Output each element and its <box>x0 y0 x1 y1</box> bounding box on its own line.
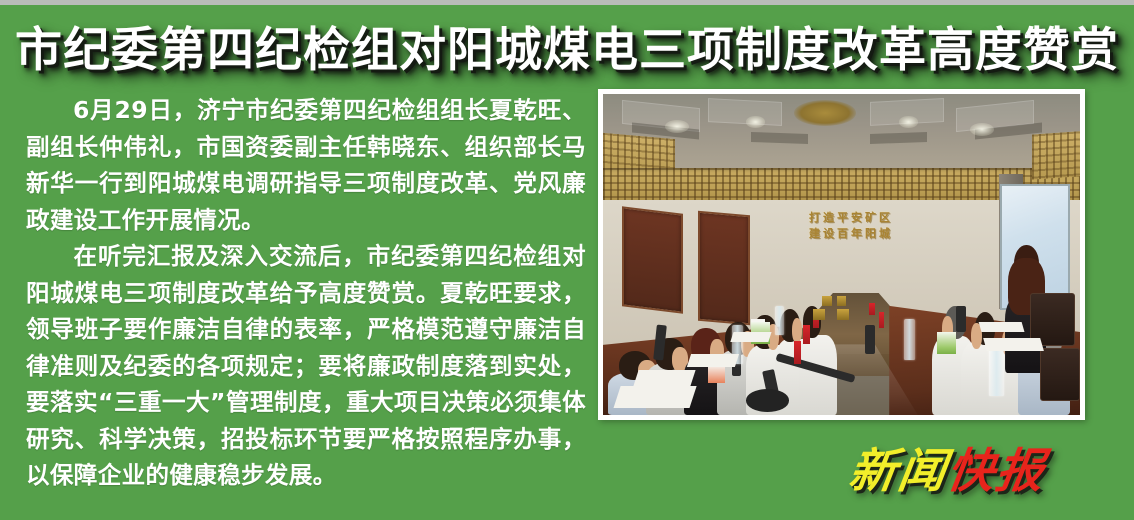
paragraph-1: 6月29日，济宁市纪委第四纪检组组长夏乾旺、副组长仲伟礼，市国资委副主任韩晓东、… <box>26 92 586 238</box>
ceiling-light <box>746 116 765 127</box>
ceiling-light <box>970 123 994 136</box>
logo-text-part-a: 新闻 <box>845 444 951 499</box>
door-center <box>698 211 750 325</box>
wall-slogan-line-2: 建设百年阳城 <box>779 226 922 242</box>
photo-frame: 打造平安矿区 建设百年阳城 <box>598 89 1085 420</box>
tissue-box <box>937 332 956 354</box>
ceiling-rose-ornament <box>794 100 856 126</box>
water-bottle <box>904 319 915 361</box>
paragraph-2: 在听完汇报及深入交流后，市纪委第四纪检组对阳城煤电三项制度改革给予高度赞赏。夏乾… <box>26 238 586 494</box>
ceiling-slot <box>751 132 808 144</box>
table-ornament <box>837 309 849 320</box>
news-flash-logo: 新闻快报 <box>845 432 1051 501</box>
table-flag <box>869 303 875 316</box>
paragraph-2-text: 在听完汇报及深入交流后，市纪委第四纪检组对阳城煤电三项制度改革给予高度赞赏。夏乾… <box>26 242 586 489</box>
wall-slogan-line-1: 打造平安矿区 <box>779 210 922 226</box>
ceiling-panel <box>708 98 782 126</box>
paragraph-1-text: 6月29日，济宁市纪委第四纪检组组长夏乾旺、副组长仲伟礼，市国资委副主任韩晓东、… <box>26 96 586 234</box>
door-left <box>622 206 683 314</box>
ceiling-light <box>665 120 689 133</box>
page-title: 市纪委第四纪检组对阳城煤电三项制度改革高度赞赏 <box>15 11 1119 80</box>
microphone <box>956 306 966 332</box>
wall-slogan: 打造平安矿区 建设百年阳城 <box>779 210 922 242</box>
water-bottle <box>989 344 1003 395</box>
ceiling-light <box>899 116 918 127</box>
table-flag <box>794 341 802 363</box>
table-ornament <box>813 309 825 320</box>
document-paper <box>634 370 696 386</box>
table-ornament <box>822 296 832 306</box>
ceiling-slot <box>870 132 927 144</box>
logo-text-part-b: 快报 <box>943 444 1049 499</box>
document-paper <box>687 354 739 367</box>
article-body: 6月29日，济宁市纪委第四纪检组组长夏乾旺、副组长仲伟礼，市国资委副主任韩晓东、… <box>26 92 586 494</box>
document-paper <box>730 332 771 342</box>
document-paper <box>983 338 1044 351</box>
poster-title-bar: 市纪委第四纪检组对阳城煤电三项制度改革高度赞赏 <box>0 5 1134 85</box>
document-paper <box>978 322 1024 332</box>
news-poster: 市纪委第四纪检组对阳城煤电三项制度改革高度赞赏 6月29日，济宁市纪委第四纪检组… <box>0 0 1134 520</box>
table-flag <box>803 325 810 344</box>
table-ornament <box>837 296 847 306</box>
chair-right-2 <box>1040 348 1080 401</box>
lattice-frieze-right <box>1032 131 1080 179</box>
document-paper <box>614 386 698 408</box>
microphone-base <box>746 389 789 411</box>
water-bottle <box>775 306 785 335</box>
meeting-photo: 打造平安矿区 建设百年阳城 <box>603 94 1080 415</box>
microphone <box>865 325 875 354</box>
table-flag <box>879 312 885 328</box>
